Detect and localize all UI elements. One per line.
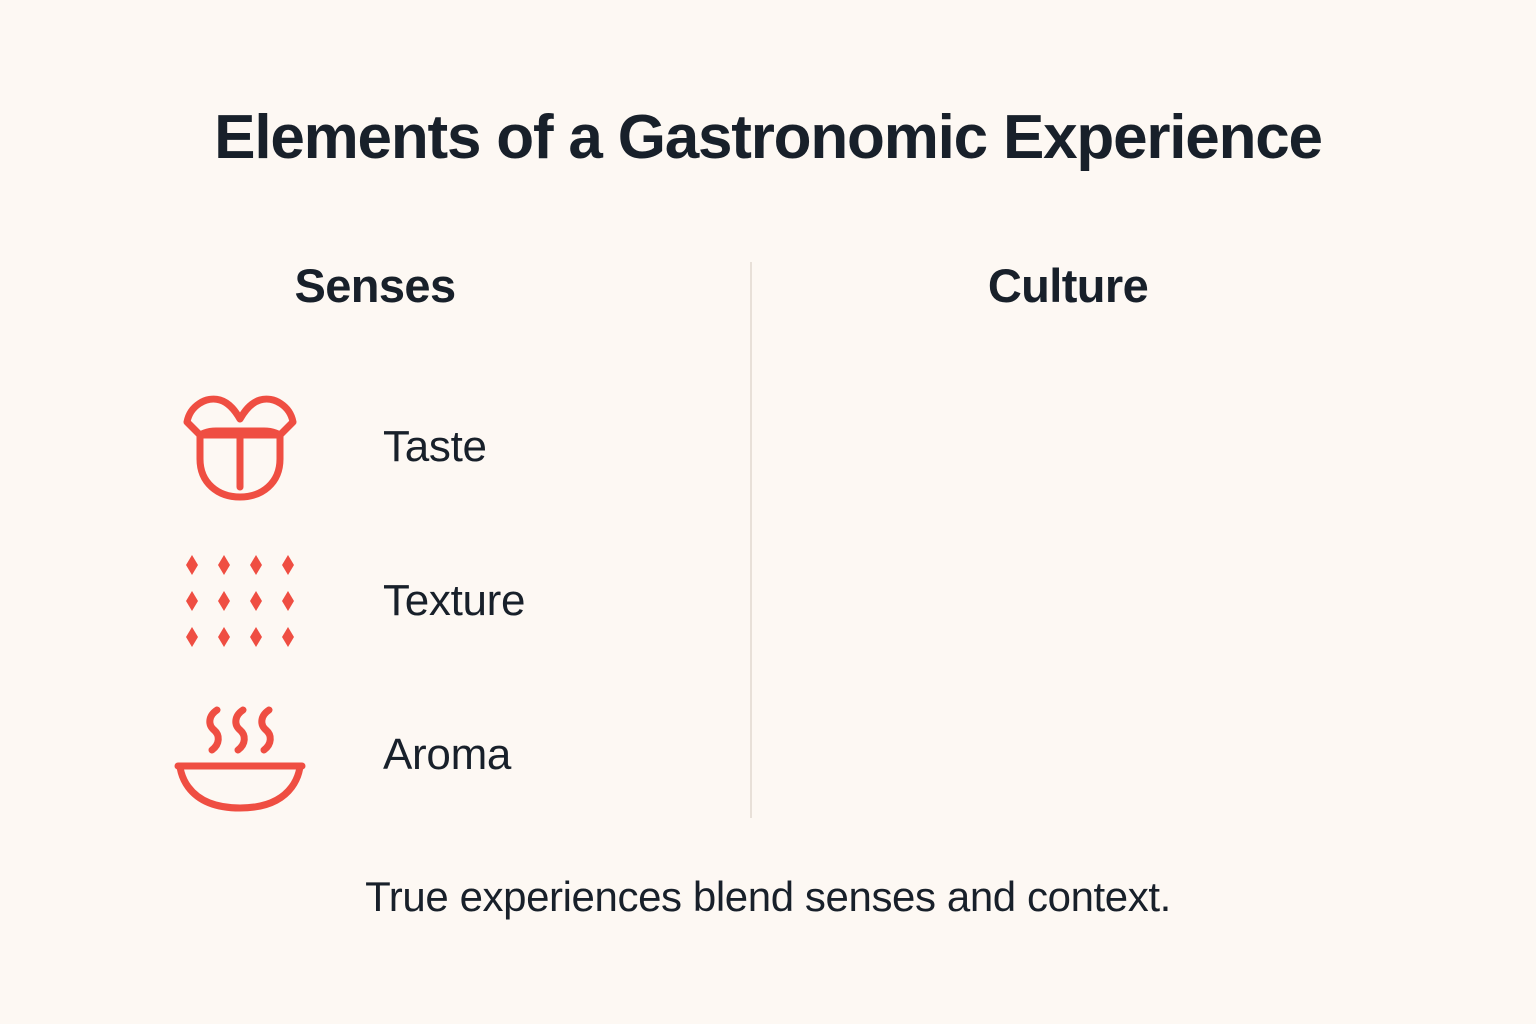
column-senses: Senses Taste bbox=[0, 262, 750, 818]
footnote: True experiences blend senses and contex… bbox=[0, 874, 1536, 920]
culture-list: Story Origin bbox=[750, 370, 1536, 832]
column-culture: Culture Story bbox=[750, 262, 1536, 818]
page-title: Elements of a Gastronomic Experience bbox=[0, 104, 1536, 172]
list-item-label: Texture bbox=[383, 579, 525, 623]
list-item-label: Taste bbox=[383, 425, 487, 469]
infographic-canvas: Elements of a Gastronomic Experience Sen… bbox=[0, 0, 1536, 1024]
column-heading-senses: Senses bbox=[0, 262, 750, 309]
columns-container: Senses Taste bbox=[0, 262, 1536, 818]
tongue-icon bbox=[165, 387, 315, 507]
dot-grid-icon bbox=[165, 541, 315, 661]
steaming-bowl-icon bbox=[165, 695, 315, 815]
column-heading-culture: Culture bbox=[750, 262, 1536, 309]
list-item-label: Aroma bbox=[383, 733, 511, 777]
